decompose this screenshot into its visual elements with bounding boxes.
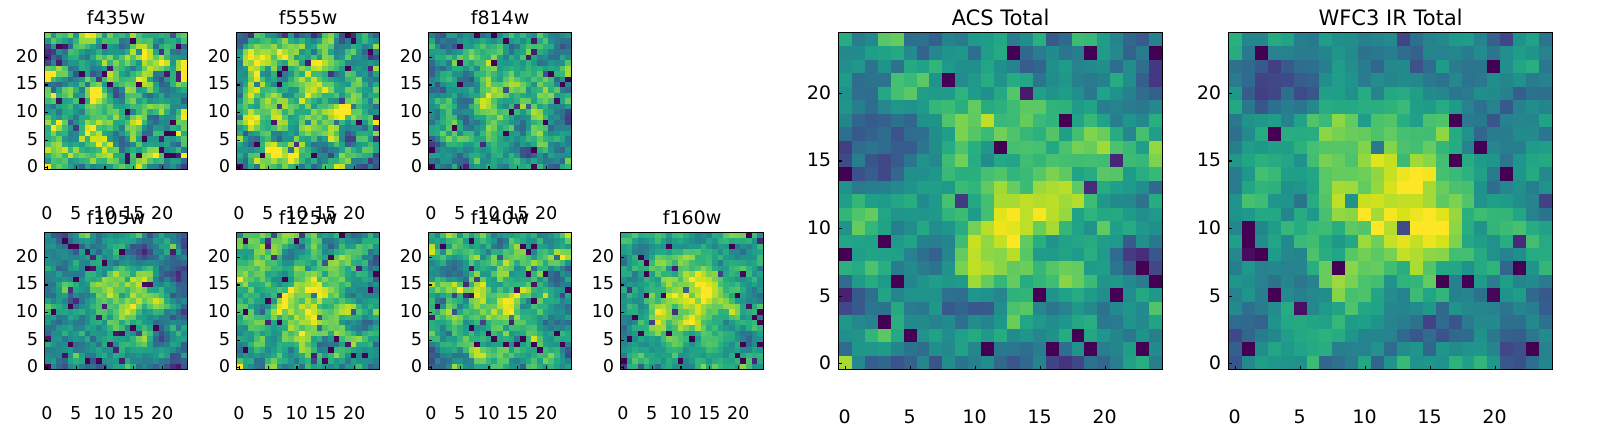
y-tick-label-5: 5 <box>411 130 422 150</box>
heatmap-wfc3-ir-total <box>1229 33 1552 369</box>
axes-wfc3-ir-total[interactable] <box>1228 32 1553 370</box>
x-tick-mark <box>1235 366 1236 370</box>
x-tick-mark <box>460 366 461 370</box>
y-tick-label-10: 10 <box>16 302 38 322</box>
y-tick-label-5: 5 <box>411 330 422 350</box>
y-tick-label-5: 5 <box>219 330 230 350</box>
y-tick-mark <box>236 257 240 258</box>
y-tick-label-10: 10 <box>400 302 422 322</box>
y-tick-label-15: 15 <box>400 274 422 294</box>
y-tick-label-10: 10 <box>400 102 422 122</box>
axes-acs-total[interactable] <box>838 32 1163 370</box>
panel-title-acs-total: ACS Total <box>838 6 1163 30</box>
y-tick-mark <box>44 57 48 58</box>
x-tick-mark <box>975 366 976 370</box>
y-tick-mark <box>428 312 432 313</box>
y-tick-label-15: 15 <box>400 74 422 94</box>
y-tick-label-10: 10 <box>208 102 230 122</box>
y-tick-label-15: 15 <box>807 149 831 171</box>
y-tick-mark <box>44 312 48 313</box>
x-tick-mark <box>268 166 269 170</box>
x-tick-mark <box>546 366 547 370</box>
y-tick-label-15: 15 <box>208 274 230 294</box>
x-tick-mark <box>133 366 134 370</box>
y-tick-label-20: 20 <box>16 47 38 67</box>
y-tick-mark <box>1228 363 1232 364</box>
x-tick-label-10: 10 <box>669 404 691 424</box>
y-tick-mark <box>236 84 240 85</box>
panel-f140w: f140w0510152005101520 <box>428 232 572 370</box>
panel-title-f814w: f814w <box>428 7 572 29</box>
x-tick-label-15: 15 <box>122 404 144 424</box>
x-tick-mark <box>517 366 518 370</box>
y-tick-label-20: 20 <box>208 47 230 67</box>
axes-f125w[interactable] <box>236 232 380 370</box>
panel-title-f160w: f160w <box>620 207 764 229</box>
x-tick-mark <box>354 166 355 170</box>
y-tick-mark <box>838 228 842 229</box>
y-tick-label-10: 10 <box>16 102 38 122</box>
y-tick-mark <box>1228 93 1232 94</box>
x-tick-label-0: 0 <box>838 406 850 428</box>
panel-title-f140w: f140w <box>428 207 572 229</box>
panel-title-f125w: f125w <box>236 207 380 229</box>
y-tick-mark <box>44 84 48 85</box>
y-tick-mark <box>44 140 48 141</box>
y-tick-label-0: 0 <box>27 157 38 177</box>
x-tick-label-20: 20 <box>343 404 365 424</box>
y-tick-label-0: 0 <box>411 157 422 177</box>
x-tick-label-20: 20 <box>151 404 173 424</box>
x-tick-mark <box>1105 366 1106 370</box>
x-tick-mark <box>1495 366 1496 370</box>
y-tick-label-0: 0 <box>411 357 422 377</box>
y-tick-mark <box>428 284 432 285</box>
heatmap-f814w <box>429 33 571 169</box>
y-tick-label-5: 5 <box>603 330 614 350</box>
x-tick-label-10: 10 <box>962 406 986 428</box>
y-tick-label-10: 10 <box>807 217 831 239</box>
y-tick-label-0: 0 <box>219 157 230 177</box>
y-tick-mark <box>44 112 48 113</box>
x-tick-label-5: 5 <box>454 404 465 424</box>
x-tick-label-5: 5 <box>646 404 657 424</box>
heatmap-f435w <box>45 33 187 169</box>
y-tick-label-0: 0 <box>1209 352 1221 374</box>
y-tick-mark <box>428 340 432 341</box>
y-tick-label-0: 0 <box>27 357 38 377</box>
panel-title-f105w: f105w <box>44 207 188 229</box>
axes-f814w[interactable] <box>428 32 572 170</box>
y-tick-mark <box>236 284 240 285</box>
x-tick-mark <box>709 366 710 370</box>
x-tick-label-5: 5 <box>1293 406 1305 428</box>
x-tick-label-0: 0 <box>233 404 244 424</box>
x-tick-mark <box>1430 366 1431 370</box>
x-tick-label-10: 10 <box>93 404 115 424</box>
x-tick-mark <box>517 166 518 170</box>
x-tick-label-5: 5 <box>70 404 81 424</box>
x-tick-label-20: 20 <box>727 404 749 424</box>
heatmap-f140w <box>429 233 571 369</box>
panel-f555w: f555w0510152005101520 <box>236 32 380 170</box>
x-tick-mark <box>680 366 681 370</box>
x-tick-mark <box>325 366 326 370</box>
x-tick-mark <box>354 366 355 370</box>
x-tick-mark <box>546 166 547 170</box>
y-tick-mark <box>428 57 432 58</box>
y-tick-mark <box>44 284 48 285</box>
heatmap-f125w <box>237 233 379 369</box>
y-tick-label-5: 5 <box>27 130 38 150</box>
heatmap-f105w <box>45 233 187 369</box>
x-tick-label-5: 5 <box>262 404 273 424</box>
x-tick-label-0: 0 <box>1228 406 1240 428</box>
x-tick-label-20: 20 <box>1092 406 1116 428</box>
y-tick-label-5: 5 <box>819 285 831 307</box>
heatmap-acs-total <box>839 33 1162 369</box>
x-tick-label-10: 10 <box>285 404 307 424</box>
y-tick-label-0: 0 <box>603 357 614 377</box>
x-tick-mark <box>133 166 134 170</box>
y-tick-label-15: 15 <box>592 274 614 294</box>
y-tick-mark <box>838 93 842 94</box>
panel-f814w: f814w0510152005101520 <box>428 32 572 170</box>
y-tick-label-15: 15 <box>16 274 38 294</box>
y-tick-mark <box>1228 296 1232 297</box>
y-tick-mark <box>1228 160 1232 161</box>
y-tick-label-10: 10 <box>208 302 230 322</box>
y-tick-label-20: 20 <box>208 247 230 267</box>
y-tick-label-15: 15 <box>208 74 230 94</box>
x-tick-mark <box>76 166 77 170</box>
axes-f140w[interactable] <box>428 232 572 370</box>
x-tick-mark <box>76 366 77 370</box>
y-tick-mark <box>428 84 432 85</box>
y-tick-label-20: 20 <box>16 247 38 267</box>
x-tick-mark <box>488 166 489 170</box>
panel-f160w: f160w0510152005101520 <box>620 232 764 370</box>
x-tick-mark <box>460 166 461 170</box>
y-tick-label-0: 0 <box>219 357 230 377</box>
panel-wfc3-ir-total: WFC3 IR Total0510152005101520 <box>1228 32 1553 370</box>
x-tick-mark <box>488 366 489 370</box>
y-tick-mark <box>236 167 240 168</box>
y-tick-mark <box>428 167 432 168</box>
y-tick-mark <box>44 167 48 168</box>
axes-f160w[interactable] <box>620 232 764 370</box>
y-tick-label-15: 15 <box>16 74 38 94</box>
axes-f435w[interactable] <box>44 32 188 170</box>
heatmap-f160w <box>621 233 763 369</box>
y-tick-label-20: 20 <box>400 47 422 67</box>
x-tick-mark <box>1365 366 1366 370</box>
y-tick-label-5: 5 <box>1209 285 1221 307</box>
y-tick-mark <box>428 140 432 141</box>
x-tick-label-15: 15 <box>506 404 528 424</box>
x-tick-mark <box>738 366 739 370</box>
y-tick-label-5: 5 <box>27 330 38 350</box>
axes-f105w[interactable] <box>44 232 188 370</box>
x-tick-mark <box>296 166 297 170</box>
x-tick-mark <box>162 366 163 370</box>
x-tick-mark <box>268 366 269 370</box>
y-tick-mark <box>236 312 240 313</box>
y-tick-label-20: 20 <box>807 82 831 104</box>
y-tick-label-20: 20 <box>400 247 422 267</box>
y-tick-mark <box>620 312 624 313</box>
x-tick-mark <box>652 366 653 370</box>
x-tick-mark <box>845 366 846 370</box>
y-tick-mark <box>236 112 240 113</box>
y-tick-mark <box>620 367 624 368</box>
y-tick-mark <box>1228 228 1232 229</box>
y-tick-mark <box>236 140 240 141</box>
x-tick-label-15: 15 <box>698 404 720 424</box>
panel-f105w: f105w0510152005101520 <box>44 232 188 370</box>
x-tick-label-15: 15 <box>314 404 336 424</box>
x-tick-label-0: 0 <box>617 404 628 424</box>
x-tick-label-10: 10 <box>477 404 499 424</box>
x-tick-mark <box>162 166 163 170</box>
x-tick-mark <box>296 366 297 370</box>
y-tick-mark <box>236 367 240 368</box>
x-tick-mark <box>1040 366 1041 370</box>
y-tick-label-20: 20 <box>1197 82 1221 104</box>
y-tick-mark <box>838 160 842 161</box>
x-tick-label-0: 0 <box>41 404 52 424</box>
y-tick-label-5: 5 <box>219 130 230 150</box>
panel-f435w: f435w0510152005101520 <box>44 32 188 170</box>
y-tick-mark <box>428 367 432 368</box>
panel-acs-total: ACS Total0510152005101520 <box>838 32 1163 370</box>
y-tick-mark <box>838 296 842 297</box>
x-tick-label-15: 15 <box>1027 406 1051 428</box>
y-tick-mark <box>428 112 432 113</box>
panel-title-wfc3-ir-total: WFC3 IR Total <box>1228 6 1553 30</box>
y-tick-mark <box>620 284 624 285</box>
x-tick-label-5: 5 <box>903 406 915 428</box>
panel-title-f555w: f555w <box>236 7 380 29</box>
y-tick-label-10: 10 <box>1197 217 1221 239</box>
y-tick-mark <box>620 340 624 341</box>
y-tick-mark <box>620 257 624 258</box>
x-tick-mark <box>325 166 326 170</box>
x-tick-label-0: 0 <box>425 404 436 424</box>
panel-title-f435w: f435w <box>44 7 188 29</box>
x-tick-label-10: 10 <box>1352 406 1376 428</box>
heatmap-f555w <box>237 33 379 169</box>
x-tick-label-20: 20 <box>535 404 557 424</box>
y-tick-label-20: 20 <box>592 247 614 267</box>
y-tick-label-0: 0 <box>819 352 831 374</box>
y-tick-mark <box>236 340 240 341</box>
y-tick-mark <box>428 257 432 258</box>
y-tick-mark <box>44 367 48 368</box>
y-tick-mark <box>838 363 842 364</box>
y-tick-mark <box>44 340 48 341</box>
x-tick-label-20: 20 <box>1482 406 1506 428</box>
x-tick-mark <box>104 366 105 370</box>
x-tick-mark <box>104 166 105 170</box>
y-tick-label-15: 15 <box>1197 149 1221 171</box>
figure-canvas: f435w0510152005101520f555w05101520051015… <box>0 0 1600 400</box>
axes-f555w[interactable] <box>236 32 380 170</box>
x-tick-label-15: 15 <box>1417 406 1441 428</box>
y-tick-mark <box>44 257 48 258</box>
y-tick-mark <box>236 57 240 58</box>
panel-f125w: f125w0510152005101520 <box>236 232 380 370</box>
x-tick-mark <box>910 366 911 370</box>
x-tick-mark <box>1300 366 1301 370</box>
y-tick-label-10: 10 <box>592 302 614 322</box>
